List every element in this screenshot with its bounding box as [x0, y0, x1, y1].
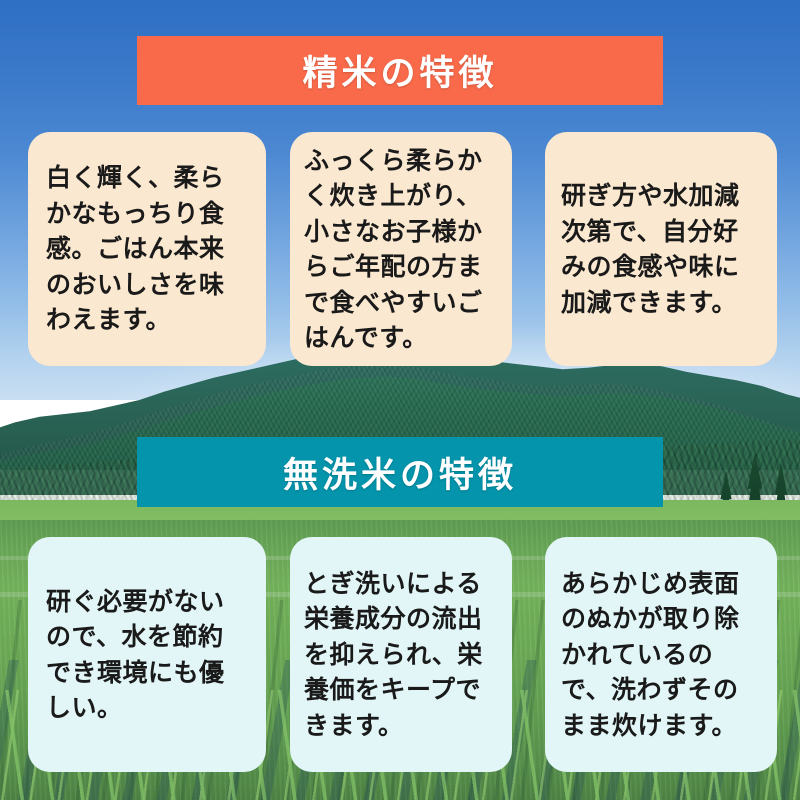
musenmai-card-3: あらかじめ表面のぬかが取り除かれているので、洗わずそのまま炊けます。 — [545, 537, 777, 772]
musenmai-card-2: とぎ洗いによる栄養成分の流出を抑えられ、栄養価をキープできます。 — [290, 537, 512, 772]
seimai-card-1-text: 白く輝く、柔らかなもっちり食感。ごはん本来のおいしさを味わえます。 — [46, 160, 248, 338]
banner-seimai: 精米の特徴 — [137, 36, 663, 105]
seimai-card-2: ふっくら柔らかく炊き上がり、小さなお子様からご年配の方まで食べやすいごはんです。 — [290, 132, 512, 366]
musenmai-card-2-text: とぎ洗いによる栄養成分の流出を抑えられ、栄養価をキープできます。 — [304, 566, 498, 744]
seimai-card-3-text: 研ぎ方や水加減次第で、自分好みの食感や味に加減できます。 — [561, 178, 761, 320]
infographic-page: 精米の特徴 白く輝く、柔らかなもっちり食感。ごはん本来のおいしさを味わえます。 … — [0, 0, 800, 800]
musenmai-card-3-text: あらかじめ表面のぬかが取り除かれているので、洗わずそのまま炊けます。 — [561, 566, 761, 744]
banner-seimai-label: 精米の特徴 — [302, 45, 497, 96]
seimai-card-1: 白く輝く、柔らかなもっちり食感。ごはん本来のおいしさを味わえます。 — [28, 132, 266, 366]
musenmai-card-1: 研ぐ必要がないので、水を節約でき環境にも優しい。 — [28, 537, 266, 772]
seimai-card-3: 研ぎ方や水加減次第で、自分好みの食感や味に加減できます。 — [545, 132, 777, 366]
banner-musenmai: 無洗米の特徴 — [137, 437, 663, 507]
seimai-card-2-text: ふっくら柔らかく炊き上がり、小さなお子様からご年配の方まで食べやすいごはんです。 — [304, 143, 498, 356]
musenmai-card-1-text: 研ぐ必要がないので、水を節約でき環境にも優しい。 — [46, 584, 248, 726]
banner-musenmai-label: 無洗米の特徴 — [283, 447, 517, 498]
